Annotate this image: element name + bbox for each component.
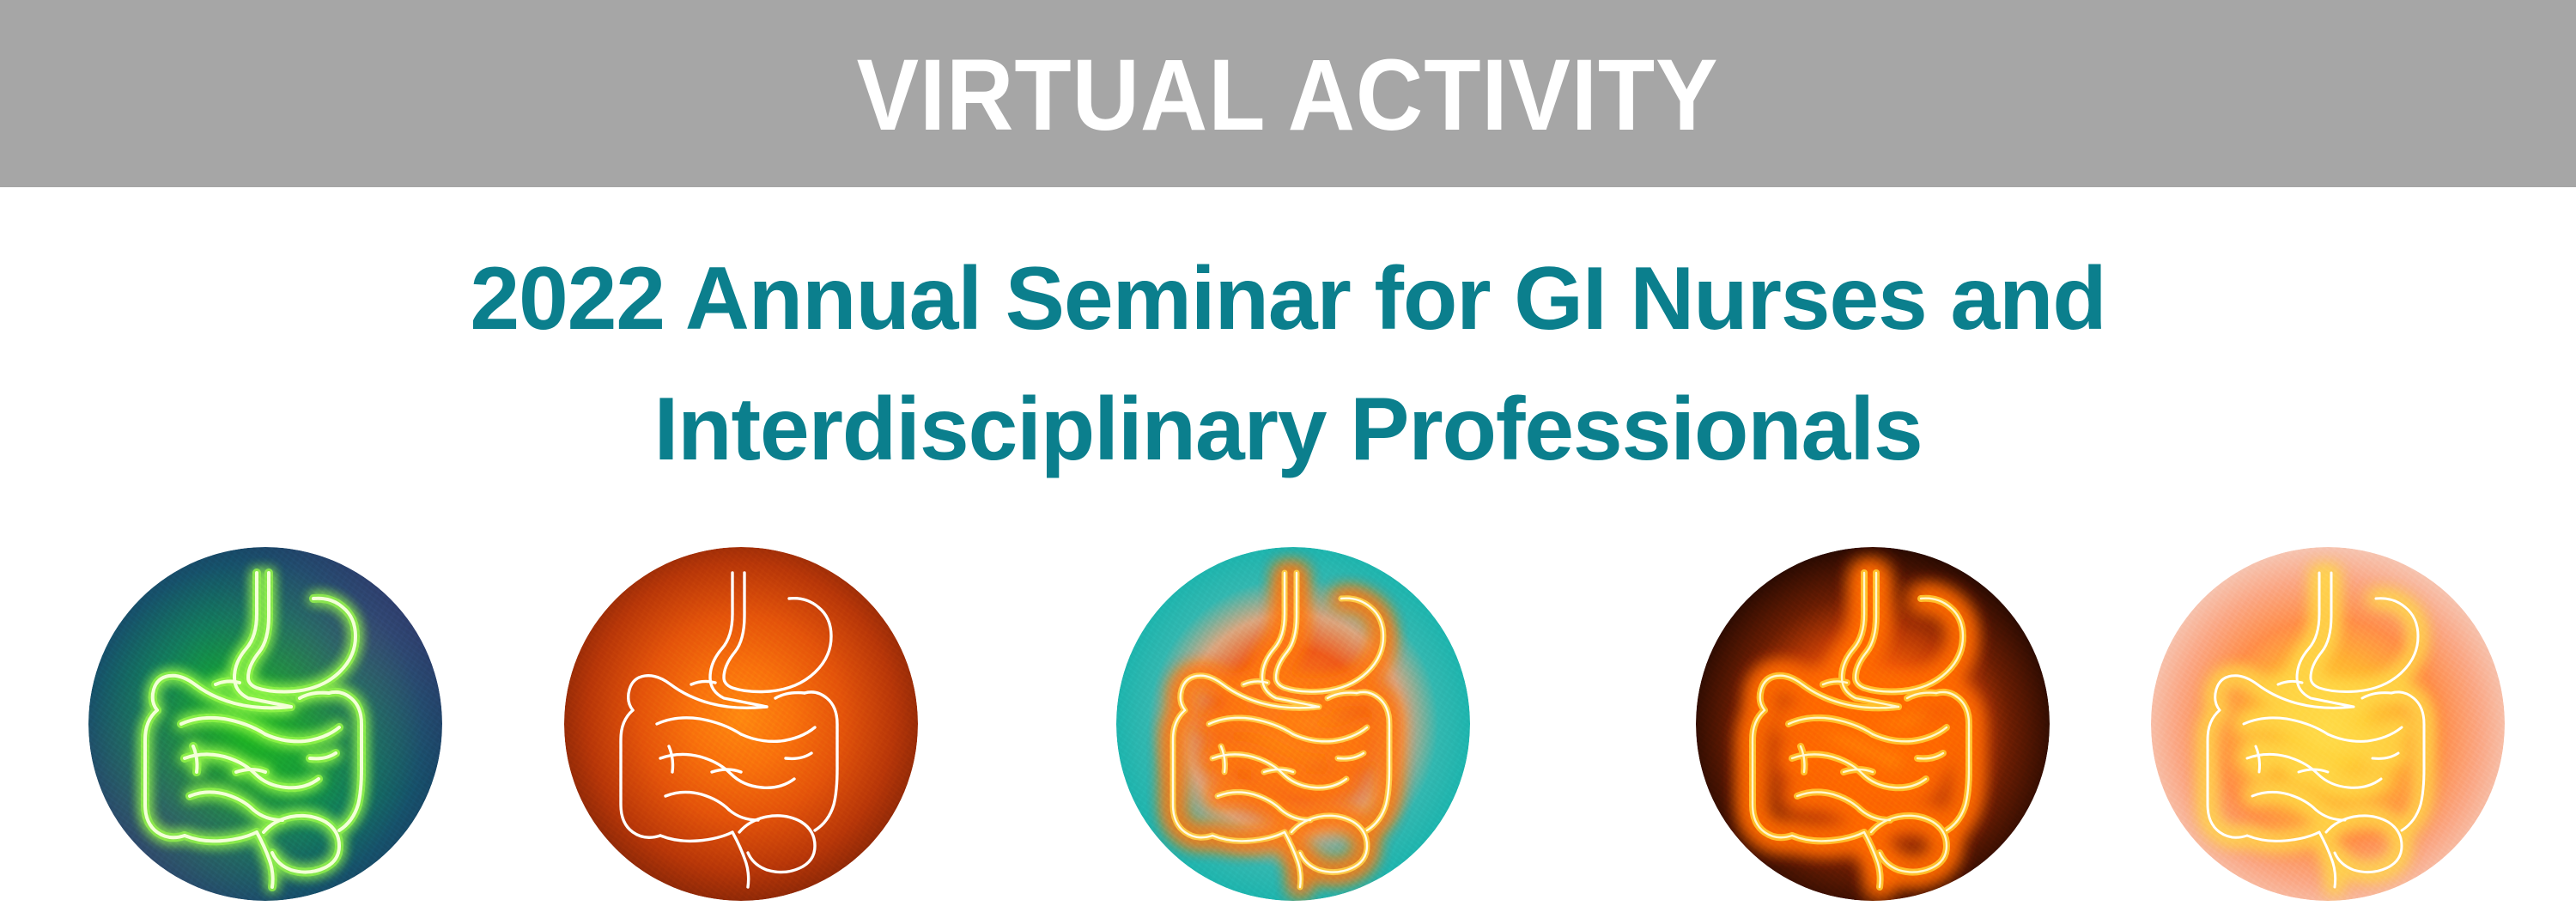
gi-tract-green-icon: [88, 547, 442, 901]
gallery-item-gi-tract-green: [88, 547, 442, 901]
banner-title: VIRTUAL ACTIVITY: [857, 45, 1719, 146]
gi-tract-orange-red-icon: [564, 547, 918, 901]
gallery-item-gi-tract-light: [2151, 547, 2505, 901]
page-title-line-1: 2022 Annual Seminar for GI Nurses and: [0, 234, 2576, 364]
page-root: VIRTUAL ACTIVITY 2022 Annual Seminar for…: [0, 0, 2576, 906]
gallery-item-gi-tract-orange-red: [564, 547, 918, 901]
page-title: 2022 Annual Seminar for GI Nurses and In…: [0, 234, 2576, 495]
gi-tract-fire-icon: [1696, 547, 2050, 901]
virtual-activity-banner: VIRTUAL ACTIVITY: [0, 0, 2576, 187]
gallery-item-gi-tract-teal: [1116, 547, 1470, 901]
gi-image-gallery: [0, 547, 2576, 906]
gi-tract-teal-icon: [1116, 547, 1470, 901]
page-title-line-2: Interdisciplinary Professionals: [0, 364, 2576, 495]
gi-tract-light-icon: [2151, 547, 2505, 901]
gallery-item-gi-tract-fire: [1696, 547, 2050, 901]
